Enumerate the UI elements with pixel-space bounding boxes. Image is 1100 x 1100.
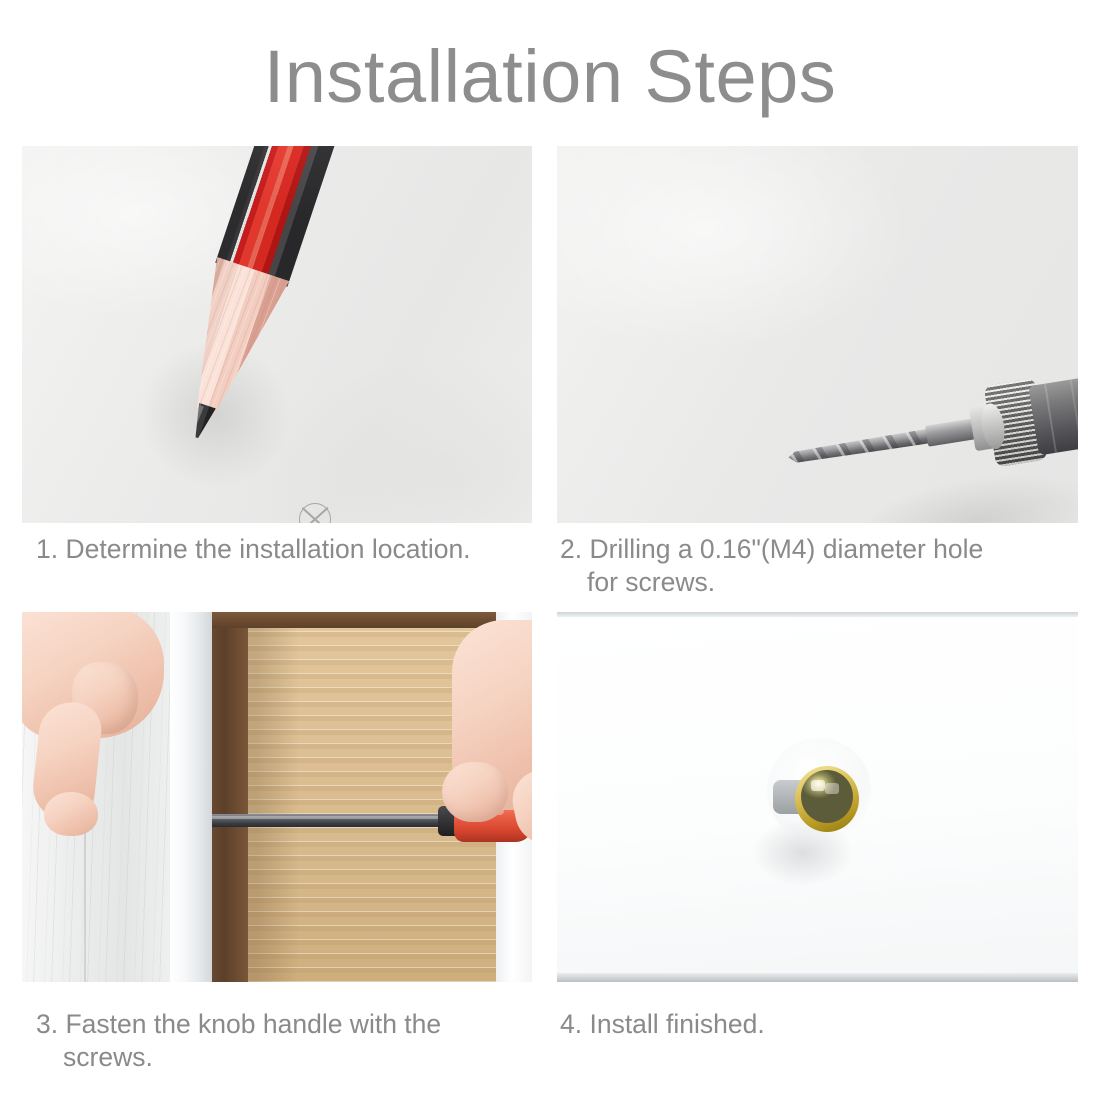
step-1-caption-line-1: 1. Determine the installation location. <box>36 534 471 564</box>
drawer-bottom-edge <box>557 973 1078 982</box>
step-2-caption: 2. Drilling a 0.16"(M4) diameter hole fo… <box>560 533 1080 599</box>
knob-dome <box>801 770 853 823</box>
step-4-caption: 4. Install finished. <box>560 1008 1080 1041</box>
step-2-caption-line-1: 2. Drilling a 0.16"(M4) diameter hole <box>560 534 983 564</box>
step-3-caption-line-2: screws. <box>36 1041 536 1074</box>
twist-drill-bit <box>787 428 936 466</box>
step-2-image <box>557 146 1078 523</box>
step-3-caption-line-1: 3. Fasten the knob handle with the <box>36 1009 441 1039</box>
knob-highlight <box>811 780 825 791</box>
step-4-caption-line-1: 4. Install finished. <box>560 1009 765 1039</box>
step-3-caption: 3. Fasten the knob handle with the screw… <box>36 1008 536 1074</box>
page-title: Installation Steps <box>0 34 1100 120</box>
step-1-caption: 1. Determine the installation location. <box>36 533 536 566</box>
x-mark-icon <box>299 503 331 523</box>
step-2-caption-line-2: for screws. <box>560 566 1080 599</box>
hand-left-fingertip <box>44 792 98 836</box>
hand-left <box>22 612 174 836</box>
drawer-top-edge <box>557 612 1078 617</box>
installed-knob-icon <box>789 760 790 761</box>
step-1-image <box>22 146 532 523</box>
screwdriver-shaft <box>210 814 446 827</box>
door-edge-highlight <box>170 612 212 982</box>
hand-right-finger <box>442 762 508 822</box>
step-3-image <box>22 612 532 982</box>
hand-right <box>442 620 532 870</box>
step-4-image <box>557 612 1078 982</box>
cabinet-side-frame <box>208 612 248 982</box>
